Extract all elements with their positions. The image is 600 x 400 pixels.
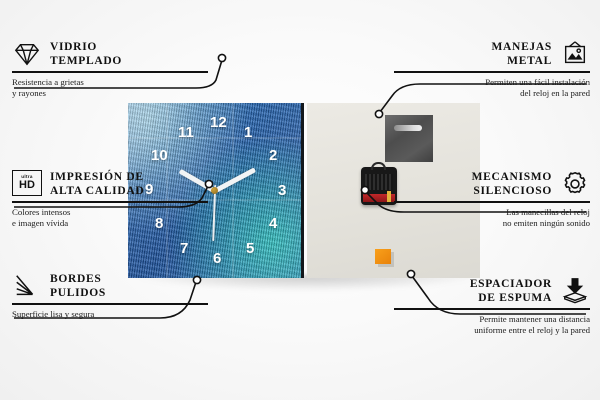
mechanism-loop [371,162,386,170]
feature-vidrio-templado[interactable]: VIDRIO TEMPLADO Resistencia a grietas y … [12,40,208,100]
divider [394,71,590,73]
feature-mecanismo-silencioso[interactable]: MECANISMO SILENCIOSO Las manecillas del … [394,170,590,230]
feature-title: IMPRESIÓN DE ALTA CALIDAD [50,170,144,198]
clock-numeral-5: 5 [246,241,254,256]
mechanism-label [363,194,395,202]
clock-center-pin [211,187,218,194]
feature-description: Las manecillas del reloj no emiten ningú… [394,207,590,230]
divider [12,201,208,203]
feature-bordes-pulidos[interactable]: BORDES PULIDOS Superficie lisa y segura [12,272,208,320]
feature-description: Permiten una fácil instalación del reloj… [394,77,590,100]
feature-impresion-alta-calidad[interactable]: ultra HD IMPRESIÓN DE ALTA CALIDAD Color… [12,170,208,230]
divider [12,303,208,305]
clock-numeral-10: 10 [151,148,168,163]
clock-numeral-1: 1 [244,125,252,140]
gear-icon [560,170,590,198]
feature-manejas-metal[interactable]: MANEJAS METAL Permiten una fácil instala… [394,40,590,100]
hanger-slot [394,125,422,131]
metal-hanger-part [385,115,433,162]
clock-mechanism-part [361,167,397,205]
feature-title: BORDES PULIDOS [50,272,106,300]
divider [12,71,208,73]
feature-title: MECANISMO SILENCIOSO [472,170,552,198]
clock-numeral-2: 2 [269,148,277,163]
foam-spacer-part [375,249,391,264]
clock-numeral-12: 12 [210,115,227,130]
feature-title: VIDRIO TEMPLADO [50,40,122,68]
feature-title: MANEJAS METAL [492,40,553,68]
mechanism-grill [365,174,393,190]
feature-description: Resistencia a grietas y rayones [12,77,208,100]
foam-spacer-icon [560,277,590,305]
diamond-icon [12,40,42,68]
ultra-hd-icon: ultra HD [12,170,42,198]
divider [394,201,590,203]
divider [394,308,590,310]
feature-title: ESPACIADOR DE ESPUMA [470,277,552,305]
clock-numeral-6: 6 [213,251,221,266]
clock-numeral-4: 4 [269,216,277,231]
clock-numeral-11: 11 [178,125,194,140]
picture-hanger-icon [560,40,590,68]
feature-espaciador-espuma[interactable]: ESPACIADOR DE ESPUMA Permite mantener un… [394,277,590,337]
feature-description: Permite mantener una distancia uniforme … [394,314,590,337]
feature-description: Colores intensos e imagen vívida [12,207,208,230]
clock-numeral-3: 3 [278,183,286,198]
feature-description: Superficie lisa y segura [12,309,208,321]
infographic-canvas: 12 1 2 3 4 5 6 7 8 9 10 11 [0,0,600,400]
clock-numeral-7: 7 [180,241,188,256]
connector-dot-1 [218,54,225,61]
polished-edges-icon [12,272,42,300]
